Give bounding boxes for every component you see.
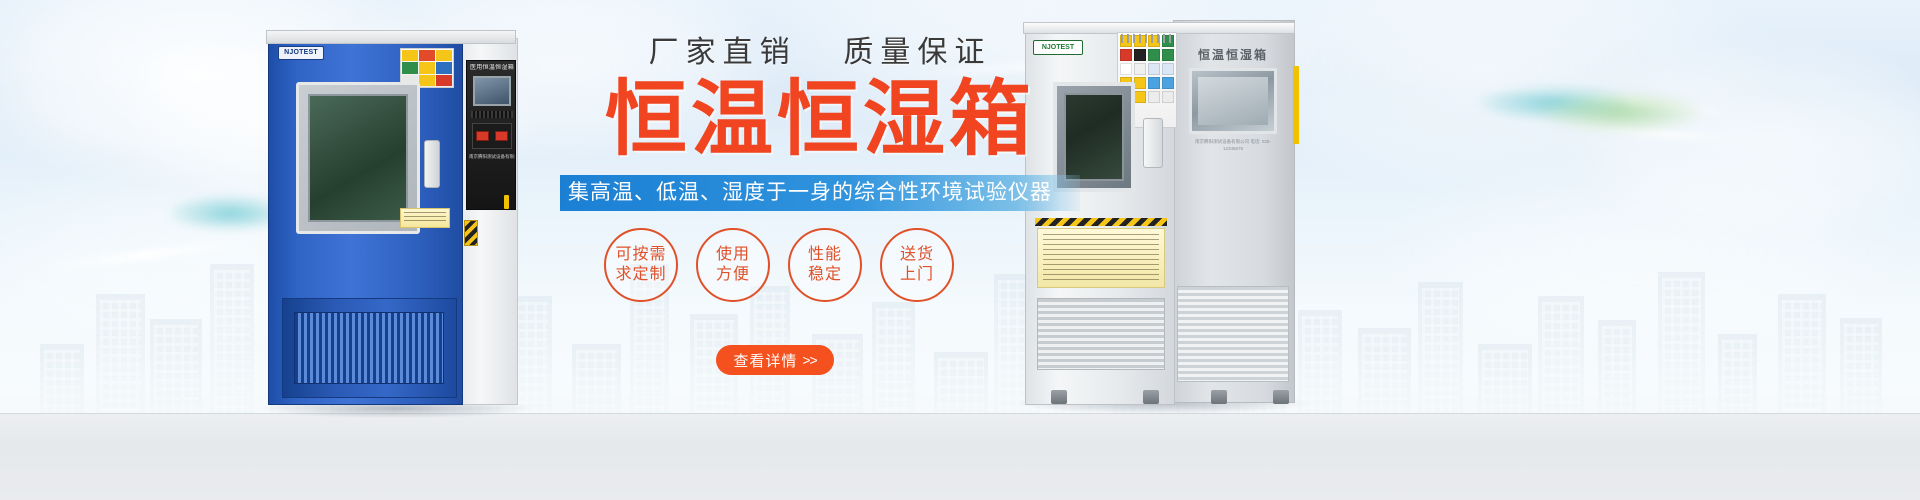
subtitle-bar: 集高温、低温、湿度于一身的综合性环境试验仪器 (560, 175, 1080, 211)
door-handle (424, 140, 440, 188)
side-vent-grille (1177, 286, 1289, 382)
feature-badge-row: 可按需 求定制 使用 方便 性能 稳定 送货 上门 (604, 228, 964, 302)
skyline-building (1358, 328, 1411, 414)
warning-icon (1134, 77, 1146, 89)
base-vent-grille (1037, 298, 1165, 370)
skyline-building (872, 302, 915, 414)
control-panel-buttonstrip (471, 111, 513, 118)
eyebrow-tagline: 厂家直销 质量保证 (560, 38, 1080, 68)
top-vent-slots (1121, 34, 1173, 43)
warning-icon (1148, 49, 1160, 61)
warning-icon (419, 62, 435, 73)
warning-icon (436, 75, 452, 86)
feature-line-2: 上门 (900, 265, 934, 285)
swoosh-decoration (1480, 81, 1740, 118)
warning-icon (1162, 49, 1174, 61)
warning-icon (1148, 91, 1160, 103)
warning-icon (436, 50, 452, 61)
feature-badge-custom: 可按需 求定制 (604, 228, 678, 302)
sticker-row (1120, 63, 1174, 75)
feature-line-1: 可按需 (615, 245, 666, 265)
led-display (495, 131, 508, 141)
warning-icon (1134, 63, 1146, 75)
machine-foot (1211, 390, 1227, 404)
control-panel-readouts (472, 123, 512, 149)
warning-icon (1162, 91, 1174, 103)
machine-foot (1051, 390, 1067, 404)
feature-badge-delivery: 送货 上门 (880, 228, 954, 302)
yellow-indicator (504, 195, 509, 209)
control-panel-title: 医用恒温恒湿箱 (469, 64, 515, 73)
feature-line-1: 送货 (900, 245, 934, 265)
swoosh-decoration (30, 236, 260, 274)
warning-icon (1134, 49, 1146, 61)
warning-icon (1120, 49, 1132, 61)
control-panel: 医用恒温恒湿箱 南京腾阳测试设备有限公司 (466, 60, 516, 210)
warning-icon (402, 50, 418, 61)
warning-icon (1120, 63, 1132, 75)
chevron-right-icon: >> (802, 352, 816, 368)
cta-label: 查看详情 (733, 350, 797, 371)
headline-title: 恒温恒湿箱 (560, 78, 1080, 162)
control-panel-footer: 南京腾阳测试设备有限公司 电话: 025-12345678 (1189, 138, 1277, 152)
led-display (476, 131, 489, 141)
yellow-edge-stripe (1293, 66, 1299, 144)
product-hero-banner: NJOTEST 医用恒温恒湿箱 南京腾阳测试设备有限公司 (0, 0, 1920, 500)
skyline-building (210, 264, 254, 414)
skyline-building (572, 344, 621, 414)
warning-icon (419, 50, 435, 61)
skyline-building (1718, 334, 1757, 414)
feature-badge-stable: 性能 稳定 (788, 228, 862, 302)
ground-strip (0, 414, 1920, 500)
warning-icon (1162, 63, 1174, 75)
skyline-building (1840, 318, 1882, 414)
teal-glow-decoration (1480, 86, 1630, 120)
screen-inner (1198, 77, 1268, 125)
feature-line-2: 求定制 (615, 265, 666, 285)
warning-icon (419, 75, 435, 86)
feature-badge-easy-use: 使用 方便 (696, 228, 770, 302)
warning-icon (436, 62, 452, 73)
hazard-stripe (464, 220, 478, 246)
skyline-building (1598, 320, 1636, 414)
skyline-building (150, 319, 202, 414)
base-vent-grille (294, 312, 444, 384)
skyline-building (1658, 272, 1705, 414)
skyline-building (1778, 294, 1826, 414)
eyebrow-left-text: 厂家直销 (649, 36, 797, 69)
warning-icon (1134, 91, 1146, 103)
warning-icon (1148, 63, 1160, 75)
skyline-building (934, 352, 988, 414)
cabinet-top (266, 30, 516, 44)
machine-foot (1273, 390, 1289, 404)
skyline-building (1418, 282, 1463, 414)
feature-line-1: 性能 (808, 245, 842, 265)
feature-line-2: 稳定 (808, 265, 842, 285)
skyline-building (96, 294, 145, 414)
sticker-row (1120, 49, 1174, 61)
view-details-button[interactable]: 查看详情 >> (716, 345, 834, 375)
cloud-decoration (1560, 40, 1920, 240)
warning-icon (1148, 77, 1160, 89)
product-image-left: NJOTEST 医用恒温恒湿箱 南京腾阳测试设备有限公司 (268, 30, 518, 405)
skyline-building (1538, 296, 1584, 414)
warning-icon (1162, 77, 1174, 89)
control-panel-screen (1189, 68, 1277, 134)
eyebrow-right-text: 质量保证 (843, 36, 991, 69)
control-panel-screen (473, 76, 511, 106)
cloud-decoration (1380, 150, 1900, 350)
hazard-stripe (1035, 218, 1167, 226)
marketing-copy-block: 厂家直销 质量保证 恒温恒湿箱 集高温、低温、湿度于一身的综合性环境试验仪器 (560, 38, 1080, 211)
green-glow-decoration (1540, 92, 1700, 132)
swoosh-decoration (1560, 121, 1760, 145)
door-handle (1143, 118, 1163, 168)
feature-line-2: 方便 (716, 265, 750, 285)
brand-logo: NJOTEST (278, 46, 324, 60)
control-panel-footer: 南京腾阳测试设备有限公司 (469, 153, 515, 161)
feature-line-1: 使用 (716, 245, 750, 265)
skyline-building (40, 344, 84, 414)
door-window-glass (308, 94, 408, 222)
warning-icon (402, 62, 418, 73)
spec-label-sticker (400, 208, 450, 228)
skyline-building (1478, 344, 1532, 414)
spec-label-sticker (1037, 228, 1165, 288)
machine-name-label: 恒温恒湿箱 (1185, 46, 1281, 64)
machine-foot (1143, 390, 1159, 404)
skyline-building (512, 296, 552, 414)
